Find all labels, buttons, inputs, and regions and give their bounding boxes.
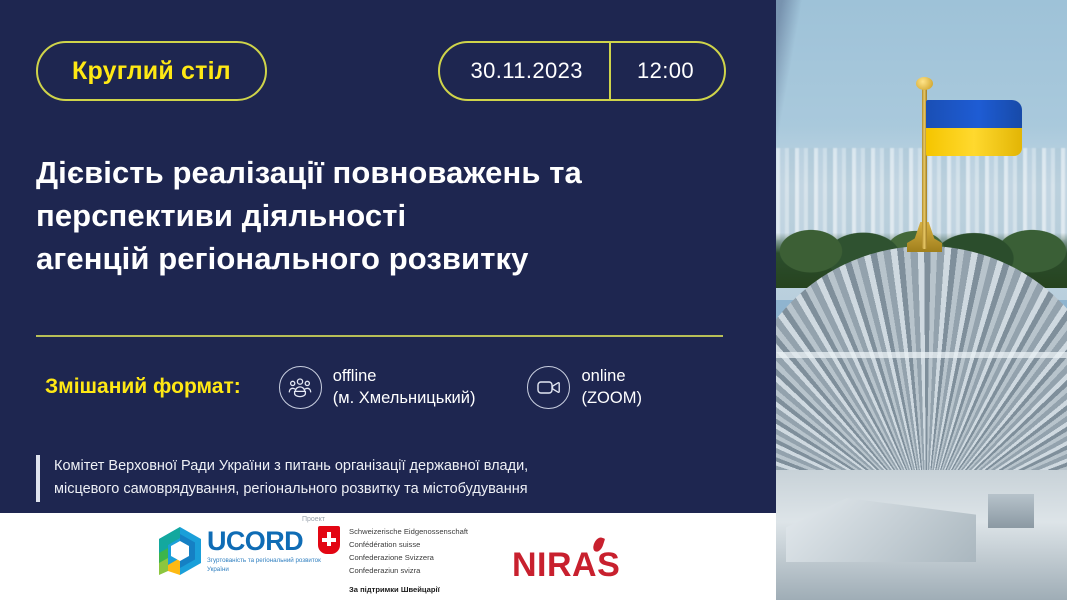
swiss-cross-icon (318, 526, 340, 554)
group-people-icon (279, 366, 322, 409)
swiss-languages: Schweizerische Eidgenossenschaft Confédé… (349, 525, 468, 577)
swiss-confederation-logo: Schweizerische Eidgenossenschaft Confédé… (318, 525, 468, 594)
video-camera-icon (527, 366, 570, 409)
swiss-support-note: За підтримки Швейцарії (349, 585, 468, 594)
ucord-tagline: Згуртованість та регіональний розвиток У… (207, 557, 325, 575)
swiss-line-de: Schweizerische Eidgenossenschaft (349, 525, 468, 538)
hero-photo (776, 0, 1067, 600)
poster-content: Круглий стіл 30.11.2023 12:00 Дієвість р… (0, 0, 776, 600)
header-row: Круглий стіл 30.11.2023 12:00 (36, 41, 726, 103)
title-line-3: агенцій регіонального розвитку (36, 238, 716, 281)
niras-logo: NIRAS (512, 548, 620, 582)
event-type-badge: Круглий стіл (36, 41, 267, 101)
section-divider (36, 335, 723, 337)
event-time: 12:00 (611, 43, 724, 99)
offline-line-2: (м. Хмельницький) (333, 387, 476, 409)
ucord-mark-icon (157, 525, 203, 577)
title-line-1: Дієвість реалізації повноважень та (36, 152, 716, 195)
ucord-wordmark: UCORD (207, 528, 325, 555)
ucord-text-block: Проект UCORD Згуртованість та регіональн… (207, 528, 325, 577)
committee-line-2: місцевого самоврядування, регіонального … (54, 478, 636, 501)
committee-note: Комітет Верховної Ради України з питань … (36, 455, 636, 502)
event-type-label: Круглий стіл (72, 57, 231, 86)
offline-line-1: offline (333, 365, 476, 387)
ucord-logo: Проект UCORD Згуртованість та регіональн… (157, 525, 325, 577)
format-option-offline-text: offline (м. Хмельницький) (333, 365, 476, 410)
ucord-project-label: Проект (302, 516, 325, 523)
event-date: 30.11.2023 (440, 43, 608, 99)
swiss-line-rm: Confederaziun svizra (349, 564, 468, 577)
datetime-badge: 30.11.2023 12:00 (438, 41, 726, 101)
format-option-online-text: online (ZOOM) (581, 365, 641, 410)
online-line-1: online (581, 365, 641, 387)
format-option-offline: offline (м. Хмельницький) (279, 365, 476, 410)
swiss-line-fr: Confédération suisse (349, 538, 468, 551)
committee-line-1: Комітет Верховної Ради України з питань … (54, 455, 636, 478)
swiss-line-it: Confederazione Svizzera (349, 551, 468, 564)
online-line-2: (ZOOM) (581, 387, 641, 409)
photo-edge-shade (776, 0, 1067, 600)
title-line-2: перспективи діяльності (36, 195, 716, 238)
niras-wordmark: NIRAS (512, 548, 620, 582)
page-title: Дієвість реалізації повноважень та персп… (36, 152, 716, 280)
format-option-online: online (ZOOM) (527, 365, 641, 410)
partner-footer: Проект UCORD Згуртованість та регіональн… (0, 513, 776, 600)
format-label: Змішаний формат: (45, 375, 241, 399)
event-poster: Круглий стіл 30.11.2023 12:00 Дієвість р… (0, 0, 1067, 600)
swiss-text-block: Schweizerische Eidgenossenschaft Confédé… (349, 525, 468, 594)
format-section: Змішаний формат: offline (м. Хме (45, 365, 642, 410)
